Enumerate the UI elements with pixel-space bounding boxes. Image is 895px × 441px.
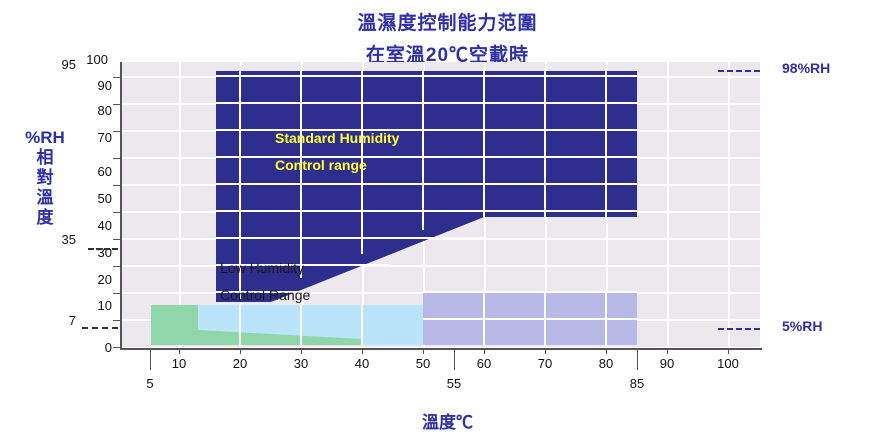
x-tick-90 xyxy=(667,348,668,354)
y-dash-35 xyxy=(88,248,118,250)
x-label-70: 70 xyxy=(530,356,560,371)
x-tick-55 xyxy=(454,348,455,370)
x-label-100: 100 xyxy=(713,356,743,371)
y-label-80: 80 xyxy=(82,103,112,118)
y-tick-90 xyxy=(113,104,120,105)
y-label-0: 0 xyxy=(82,340,112,355)
x-label-50: 50 xyxy=(408,356,438,371)
standard-region-label-line1: Standard Humidity xyxy=(275,130,399,146)
y-tick-30 xyxy=(113,266,120,267)
x-tick-70 xyxy=(545,348,546,354)
x-tick-10 xyxy=(179,348,180,354)
annotation-98-rh: 98%RH xyxy=(782,60,830,76)
x-tick-5 xyxy=(150,348,151,370)
y-outer-label-95: 95 xyxy=(48,57,76,72)
y-axis-title: %RH 相 對 溫 度 xyxy=(18,128,72,228)
y-tick-60 xyxy=(113,185,120,186)
y-outer-label-35: 35 xyxy=(48,232,76,247)
y-tick-20 xyxy=(113,293,120,294)
y-tick-10 xyxy=(113,320,120,321)
x-outer-label-55: 55 xyxy=(439,376,469,391)
y-axis-title-line1: %RH xyxy=(18,128,72,148)
x-tick-20 xyxy=(240,348,241,354)
standard-region-label-line2: Control range xyxy=(275,157,367,173)
x-tick-100 xyxy=(728,348,729,354)
chart-container: 溫濕度控制能力范圍 在室溫20℃空載時 xyxy=(0,0,895,441)
x-label-40: 40 xyxy=(347,356,377,371)
y-tick-100 xyxy=(113,77,120,78)
x-label-60: 60 xyxy=(469,356,499,371)
y-tick-40 xyxy=(113,239,120,240)
low-region-label-line2: Control Range xyxy=(220,287,310,303)
y-label-20: 20 xyxy=(82,272,112,287)
x-tick-60 xyxy=(484,348,485,354)
y-label-50: 50 xyxy=(82,191,112,206)
y-axis-line xyxy=(120,62,122,350)
y-axis-title-line2: 相 xyxy=(18,148,72,168)
y-axis-title-line3: 對 xyxy=(18,168,72,188)
y-axis-title-line5: 度 xyxy=(18,208,72,228)
low-region-label-line1: Low Humidity xyxy=(220,260,304,276)
y-tick-70 xyxy=(113,158,120,159)
x-axis-title: 溫度℃ xyxy=(0,408,895,433)
green-region-overlay xyxy=(151,305,198,345)
x-label-10: 10 xyxy=(164,356,194,371)
y-label-40: 40 xyxy=(82,218,112,233)
y-tick-80 xyxy=(113,131,120,132)
y-label-70: 70 xyxy=(82,130,112,145)
x-outer-label-5: 5 xyxy=(135,376,165,391)
y-dash-7 xyxy=(82,327,118,329)
x-label-30: 30 xyxy=(286,356,316,371)
y-label-90: 90 xyxy=(82,78,112,93)
chart-title: 溫濕度控制能力范圍 xyxy=(0,8,895,35)
y-outer-label-7: 7 xyxy=(48,313,76,328)
plot-area: Standard Humidity Control range Low Humi… xyxy=(120,62,760,347)
x-outer-label-85: 85 xyxy=(622,376,652,391)
annotation-dash-98 xyxy=(718,70,760,72)
annotation-dash-5 xyxy=(718,328,760,330)
x-tick-50 xyxy=(423,348,424,354)
x-label-80: 80 xyxy=(591,356,621,371)
x-tick-30 xyxy=(301,348,302,354)
y-label-60: 60 xyxy=(82,164,112,179)
y-tick-0 xyxy=(113,347,120,348)
y-axis-title-line4: 溫 xyxy=(18,188,72,208)
y-tick-50 xyxy=(113,212,120,213)
annotation-5-rh: 5%RH xyxy=(782,318,822,334)
x-label-20: 20 xyxy=(225,356,255,371)
x-tick-80 xyxy=(606,348,607,354)
x-tick-40 xyxy=(362,348,363,354)
y-label-10: 10 xyxy=(82,298,112,313)
y-label-100: 100 xyxy=(78,52,108,67)
x-axis-line xyxy=(120,348,762,350)
region-shapes xyxy=(120,62,760,347)
x-tick-85 xyxy=(637,348,638,370)
x-label-90: 90 xyxy=(652,356,682,371)
